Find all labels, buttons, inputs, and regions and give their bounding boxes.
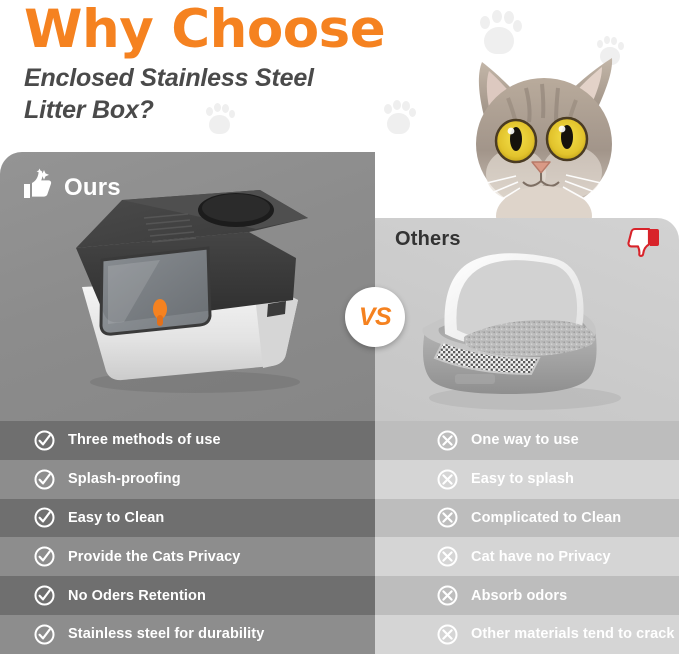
feature-label-others: Other materials tend to crack bbox=[471, 626, 675, 642]
cross-circle-icon bbox=[437, 624, 458, 645]
thumbs-up-icon bbox=[20, 168, 54, 207]
feature-cell-others: One way to use bbox=[375, 421, 679, 460]
feature-cell-ours: Three methods of use bbox=[0, 421, 375, 460]
vs-badge: VS bbox=[345, 287, 405, 347]
cross-circle-icon bbox=[437, 430, 458, 451]
feature-cell-others: Complicated to Clean bbox=[375, 499, 679, 538]
feature-cell-ours: Stainless steel for durability bbox=[0, 615, 375, 654]
feature-cell-ours: Splash-proofing bbox=[0, 460, 375, 499]
panel-others: Others bbox=[375, 218, 679, 422]
feature-label-ours: Provide the Cats Privacy bbox=[68, 549, 240, 565]
check-circle-icon bbox=[34, 585, 55, 606]
cross-circle-icon bbox=[437, 585, 458, 606]
feature-label-others: Complicated to Clean bbox=[471, 510, 621, 526]
feature-cell-ours: No Oders Retention bbox=[0, 576, 375, 615]
subtitle-line-2: Litter Box? bbox=[24, 96, 154, 124]
table-row: No Oders Retention Absorb odors bbox=[0, 576, 679, 615]
check-circle-icon bbox=[34, 469, 55, 490]
feature-cell-others: Absorb odors bbox=[375, 576, 679, 615]
feature-cell-others: Cat have no Privacy bbox=[375, 537, 679, 576]
paw-print-icon bbox=[205, 103, 235, 135]
check-circle-icon bbox=[34, 624, 55, 645]
feature-cell-ours: Provide the Cats Privacy bbox=[0, 537, 375, 576]
infographic-root: Why Choose Enclosed Stainless Steel Litt… bbox=[0, 0, 679, 654]
table-row: Stainless steel for durability Other mat… bbox=[0, 615, 679, 654]
check-circle-icon bbox=[34, 546, 55, 567]
cross-circle-icon bbox=[437, 507, 458, 528]
feature-cell-ours: Easy to Clean bbox=[0, 499, 375, 538]
feature-label-ours: No Oders Retention bbox=[68, 588, 206, 604]
product-image-ours bbox=[60, 182, 325, 397]
feature-label-ours: Splash-proofing bbox=[68, 471, 181, 487]
table-row: Easy to Clean Complicated to Clean bbox=[0, 499, 679, 538]
cross-circle-icon bbox=[437, 469, 458, 490]
table-row: Splash-proofing Easy to splash bbox=[0, 460, 679, 499]
feature-label-ours: Three methods of use bbox=[68, 432, 221, 448]
feature-label-ours: Stainless steel for durability bbox=[68, 626, 264, 642]
feature-label-others: One way to use bbox=[471, 432, 579, 448]
page-title: Why Choose bbox=[24, 2, 385, 58]
feature-label-ours: Easy to Clean bbox=[68, 510, 164, 526]
check-circle-icon bbox=[34, 430, 55, 451]
table-row: Three methods of use One way to use bbox=[0, 421, 679, 460]
table-row: Provide the Cats Privacy Cat have no Pri… bbox=[0, 537, 679, 576]
feature-comparison-table: Three methods of use One way to use Spla… bbox=[0, 421, 679, 654]
product-image-others bbox=[403, 246, 648, 414]
subtitle-line-1: Enclosed Stainless Steel bbox=[24, 64, 314, 92]
panel-ours: Ours bbox=[0, 152, 375, 422]
cat-photo bbox=[464, 36, 679, 228]
check-circle-icon bbox=[34, 507, 55, 528]
feature-cell-others: Easy to splash bbox=[375, 460, 679, 499]
feature-label-others: Absorb odors bbox=[471, 588, 567, 604]
feature-label-others: Easy to splash bbox=[471, 471, 574, 487]
cross-circle-icon bbox=[437, 546, 458, 567]
feature-label-others: Cat have no Privacy bbox=[471, 549, 611, 565]
paw-print-icon bbox=[383, 100, 416, 135]
feature-cell-others: Other materials tend to crack bbox=[375, 615, 679, 654]
